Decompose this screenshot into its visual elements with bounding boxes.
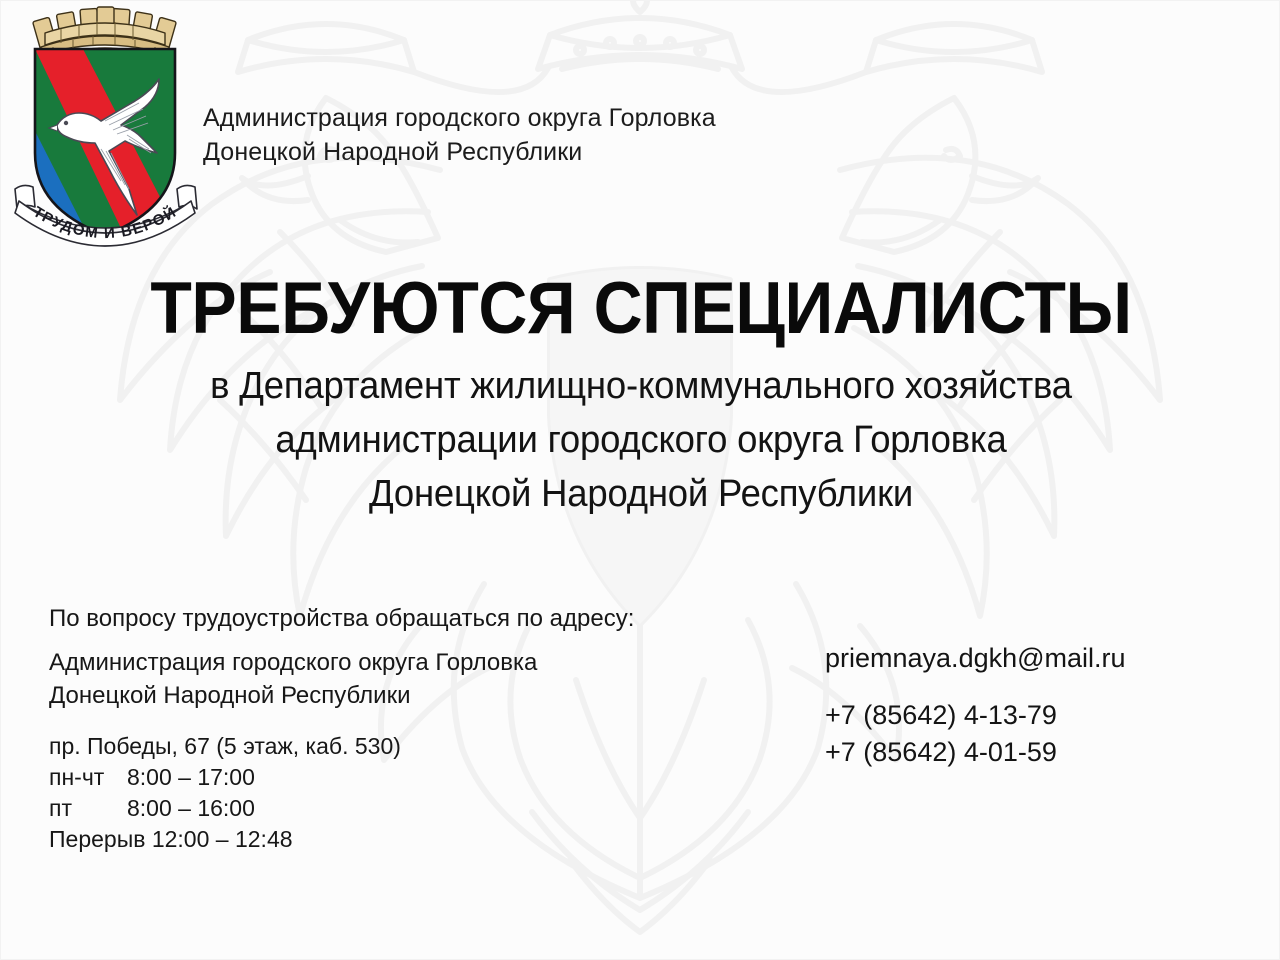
hours-block: пр. Победы, 67 (5 этаж, каб. 530) пн-чт8… [49,731,401,855]
contact-phone-1[interactable]: +7 (85642) 4-13-79 [825,697,1126,734]
contact-phones: +7 (85642) 4-13-79 +7 (85642) 4-01-59 [825,697,1126,771]
right-contact-block: priemnaya.dgkh@mail.ru +7 (85642) 4-13-7… [825,641,1126,771]
hours-time-weekdays: 8:00 – 17:00 [127,764,255,790]
org-header-line-1: Администрация городского округа Горловка [203,101,716,135]
hours-day-weekdays: пн-чт [49,762,127,793]
hours-break: Перерыв 12:00 – 12:48 [49,824,401,855]
hours-row-friday: пт8:00 – 16:00 [49,793,401,824]
org-header-line-2: Донецкой Народной Республики [203,135,716,169]
contact-intro-text: По вопросу трудоустройства обращаться по… [49,603,634,635]
hours-row-weekdays: пн-чт8:00 – 17:00 [49,762,401,793]
address-street: пр. Победы, 67 (5 этаж, каб. 530) [49,731,401,762]
subtitle-line-3: Донецкой Народной Республики [27,467,1256,521]
subtitle-line-1: в Департамент жилищно-коммунального хозя… [27,359,1256,413]
gorlovka-coat-of-arms-icon: ТРУДОМ И ВЕРОЙ [9,3,201,265]
job-vacancy-poster: ТРУДОМ И ВЕРОЙ Администрация городского … [0,0,1280,960]
contact-phone-2[interactable]: +7 (85642) 4-01-59 [825,734,1126,771]
page-title: ТРЕБУЮТСЯ СПЕЦИАЛИСТЫ [46,269,1236,349]
contact-email[interactable]: priemnaya.dgkh@mail.ru [825,641,1126,675]
address-org-line-2: Донецкой Народной Республики [49,679,537,712]
hours-day-friday: пт [49,793,127,824]
hours-time-friday: 8:00 – 16:00 [127,795,255,821]
address-org-line-1: Администрация городского округа Горловка [49,646,537,679]
page-subtitle: в Департамент жилищно-коммунального хозя… [27,359,1256,521]
organization-header: Администрация городского округа Горловка… [203,101,716,169]
address-block: Администрация городского округа Горловка… [49,646,537,712]
subtitle-line-2: администрации городского округа Горловка [27,413,1256,467]
